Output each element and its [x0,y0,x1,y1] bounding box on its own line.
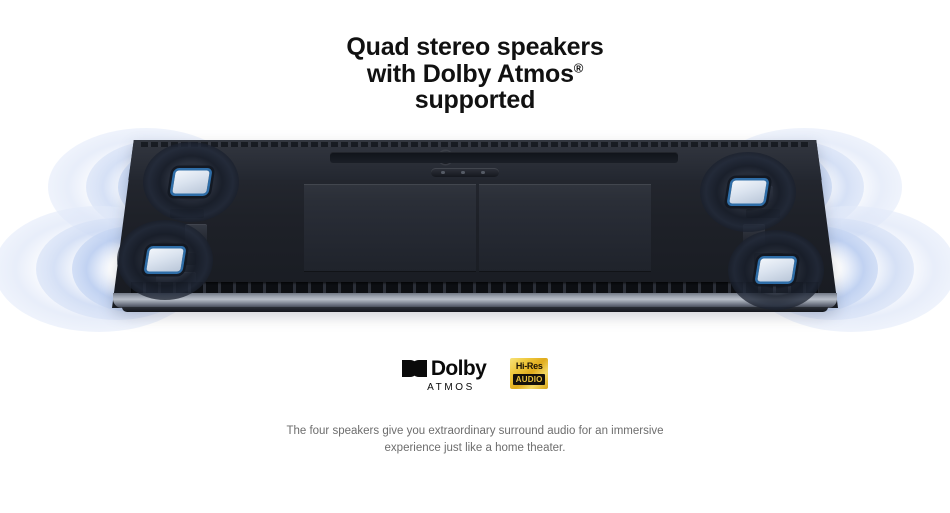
speaker-module-top-right [700,152,796,232]
headline-line-2: with Dolby Atmos® [0,61,950,88]
headline-line-2-text: with Dolby Atmos [367,60,574,88]
page-title: Quad stereo speakers with Dolby Atmos® s… [0,34,950,114]
speaker-module-bottom-right [728,230,824,310]
board-connector [431,168,499,177]
screw-icon [439,151,452,164]
dolby-atmos-logo: Dolby ATMOS [402,358,486,393]
speaker-driver [172,171,210,194]
caption-line-1: The four speakers give you extraordinary… [0,423,950,440]
speaker-driver [757,259,795,282]
speaker-module-bottom-left [117,220,213,300]
dolby-atmos-subtitle: ATMOS [413,382,475,393]
registered-trademark-symbol: ® [574,60,583,75]
speaker-module-top-left [143,142,239,222]
hi-res-audio-badge: Hi-Res AUDIO [510,358,548,389]
certification-logos: Dolby ATMOS Hi-Res AUDIO [0,358,950,393]
headline-line-1: Quad stereo speakers [0,34,950,61]
dolby-wordmark: Dolby [431,358,486,379]
dolby-double-d-icon [402,360,427,377]
headline-line-3: supported [0,87,950,114]
hi-res-badge-bottom-text: AUDIO [513,374,545,385]
hi-res-badge-top-text: Hi-Res [513,361,545,372]
caption-line-2: experience just like a home theater. [0,440,950,457]
caption-text: The four speakers give you extraordinary… [0,423,950,457]
battery-cell-right [479,184,650,272]
speaker-driver [146,249,184,272]
speaker-driver [729,181,767,204]
battery-cell-left [304,184,475,272]
product-image [0,122,950,342]
